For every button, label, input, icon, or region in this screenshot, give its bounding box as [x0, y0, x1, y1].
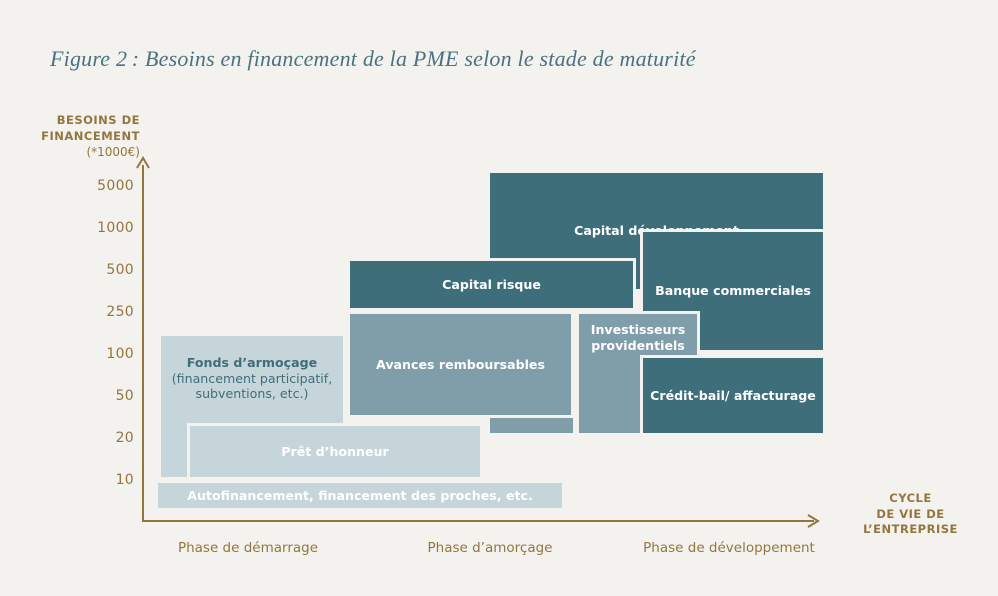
y-tick-250: 250 [0, 304, 134, 320]
y-tick-20: 20 [0, 430, 134, 446]
block-fonds-damorcage-label: Fonds d’armoçage (financement participat… [161, 355, 343, 402]
x-axis-title-line3: L’ENTREPRISE [828, 522, 993, 538]
block-investisseurs-providentiels-line1: Investisseurs [591, 322, 685, 337]
block-avances-remboursables-line2: remboursables [439, 357, 545, 372]
y-axis-line [142, 165, 144, 521]
block-credit-bail-affacturage-label: Crédit-bail/ affacturage [644, 388, 822, 404]
x-axis-arrow-icon [806, 514, 820, 528]
figure-container: Figure 2 : Besoins en financement de la … [0, 0, 998, 596]
x-label-phase-amorcage: Phase d’amorçage [428, 540, 553, 556]
block-credit-bail-affacturage-line1: Crédit-bail/ [650, 388, 729, 403]
x-label-phase-demarrage: Phase de démarrage [178, 540, 318, 556]
block-capital-risque[interactable]: Capital risque [347, 258, 636, 311]
x-axis-title-line1: CYCLE [828, 491, 993, 507]
block-avances-remboursables[interactable]: Avances remboursables [347, 311, 574, 418]
block-autofinancement[interactable]: Autofinancement, financement des proches… [155, 480, 565, 511]
y-tick-100: 100 [0, 346, 134, 362]
y-tick-50: 50 [0, 388, 134, 404]
block-avances-remboursables-line1: Avances [376, 357, 434, 372]
block-banque-commerciales-line1: Banque [655, 283, 709, 298]
block-fonds-damorcage-subtitle: (financement participatif, subventions, … [167, 371, 337, 402]
y-tick-10: 10 [0, 472, 134, 488]
block-mid-filler-left [487, 418, 576, 436]
figure-title: Figure 2 : Besoins en financement de la … [50, 46, 696, 72]
y-tick-500: 500 [0, 262, 134, 278]
block-investisseurs-providentiels-label: Investisseurs providentiels [579, 322, 697, 353]
block-avances-remboursables-label: Avances remboursables [370, 357, 551, 373]
x-label-phase-developpement: Phase de développement [643, 540, 815, 556]
y-tick-5000: 5000 [0, 178, 134, 194]
x-axis-title: CYCLE DE VIE DE L’ENTREPRISE [828, 491, 993, 538]
block-capital-risque-label: Capital risque [436, 277, 547, 293]
block-capital-developpement-line1: Capital [574, 223, 624, 238]
x-axis-title-line2: DE VIE DE [828, 507, 993, 523]
block-pret-dhonneur[interactable]: Prêt d’honneur [187, 423, 483, 480]
block-fonds-damorcage-title: Fonds d’armoçage [167, 355, 337, 371]
y-axis-arrow-icon [136, 156, 150, 170]
y-tick-1000: 1000 [0, 220, 134, 236]
block-investisseurs-providentiels-line2: providentiels [591, 338, 685, 353]
y-tick-labels: 5000 1000 500 250 100 50 20 10 [0, 0, 134, 596]
x-axis-line [142, 520, 814, 522]
block-credit-bail-affacturage-line2: affacturage [734, 388, 816, 403]
block-credit-bail-affacturage[interactable]: Crédit-bail/ affacturage [640, 355, 826, 436]
block-pret-dhonneur-label: Prêt d’honneur [275, 444, 394, 460]
block-autofinancement-label: Autofinancement, financement des proches… [181, 488, 539, 504]
block-banque-commerciales-line2: commerciales [713, 283, 811, 298]
block-banque-commerciales-label: Banque commerciales [649, 283, 817, 299]
